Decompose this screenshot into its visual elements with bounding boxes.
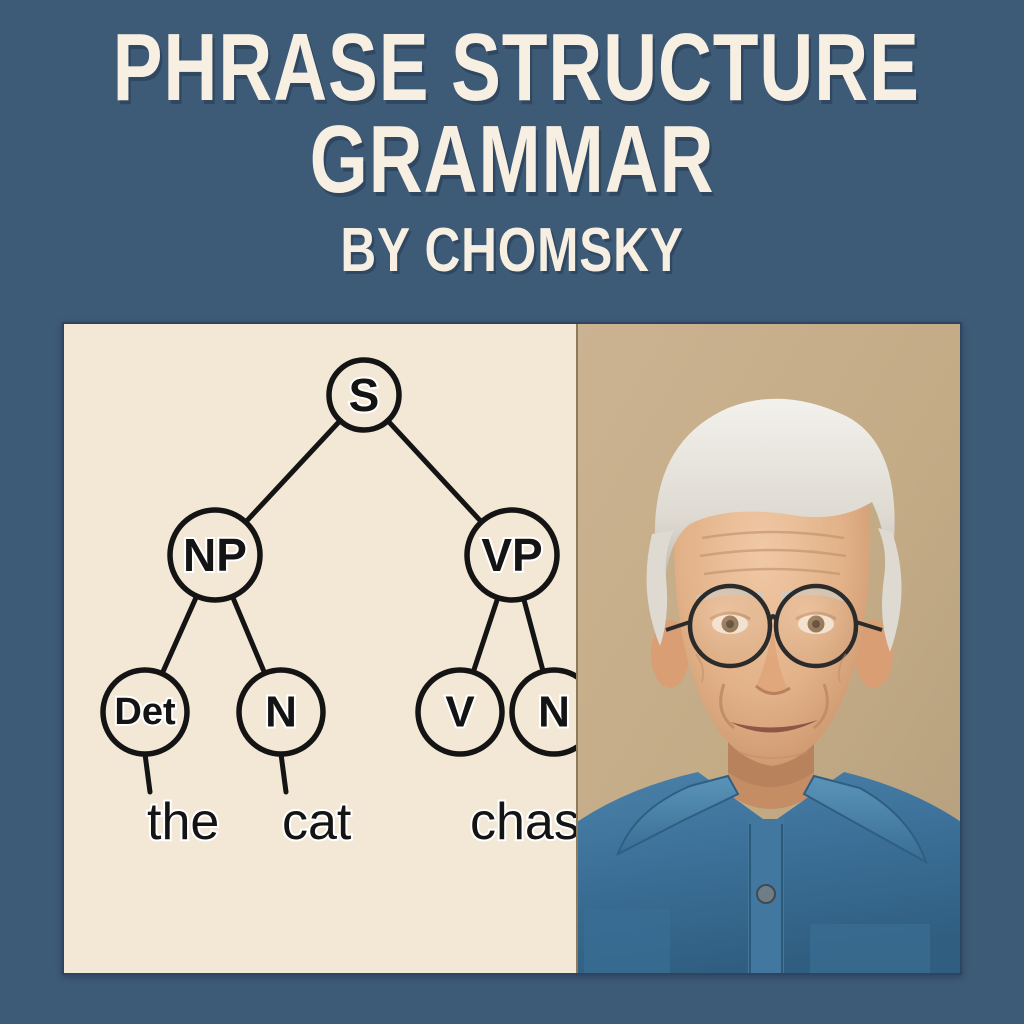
node-label-S: S: [349, 369, 380, 421]
tree-node-NP[interactable]: NP: [170, 510, 260, 600]
tree-word-0: the: [147, 793, 219, 851]
poster-canvas: PHRASE STRUCTURE GRAMMAR BY CHOMSKY SNPV…: [0, 0, 1024, 1024]
tree-edge-VP-N2: [523, 598, 543, 673]
leaf-stem-Det: [145, 754, 150, 792]
tree-edge-S-NP: [245, 420, 341, 523]
leaf-stem-N1: [281, 754, 286, 792]
tree-node-Det[interactable]: Det: [103, 670, 187, 754]
syntax-tree-svg: SNPVPDetNVN thecatchased: [64, 324, 576, 973]
tree-node-N1[interactable]: N: [239, 670, 323, 754]
tree-word-1: cat: [282, 793, 352, 851]
tree-leaf-stem-group: [145, 754, 286, 792]
page-title-line-1: PHRASE STRUCTURE: [113, 22, 912, 114]
portrait-photo-panel: [576, 324, 962, 973]
tree-node-VP[interactable]: VP: [467, 510, 557, 600]
tree-word-group: thecatchased: [147, 793, 576, 851]
node-label-Det: Det: [114, 691, 176, 733]
tree-node-group: SNPVPDetNVN: [103, 360, 576, 754]
node-label-N1: N: [265, 688, 297, 737]
portrait-illustration: [578, 324, 962, 973]
node-label-NP: NP: [183, 529, 247, 581]
shirt-button: [757, 885, 775, 903]
tree-edge-NP-Det: [162, 595, 197, 674]
tree-edge-S-VP: [387, 420, 482, 523]
tree-node-S[interactable]: S: [329, 360, 399, 430]
tree-edge-NP-N1: [232, 596, 265, 675]
node-label-V: V: [445, 688, 475, 737]
content-card: SNPVPDetNVN thecatchased: [62, 322, 962, 975]
node-label-VP: VP: [481, 529, 542, 581]
tree-edge-VP-V: [473, 597, 498, 673]
tree-node-N2[interactable]: N: [512, 670, 576, 754]
syntax-tree-panel: SNPVPDetNVN thecatchased: [64, 324, 576, 973]
tree-node-V[interactable]: V: [418, 670, 502, 754]
shirt-pocket-left: [584, 909, 670, 973]
shirt-pocket-right: [810, 924, 930, 973]
title-block: PHRASE STRUCTURE GRAMMAR BY CHOMSKY: [0, 0, 1024, 282]
node-label-N2: N: [538, 688, 570, 737]
page-title-line-2: GRAMMAR: [113, 114, 912, 206]
tree-word-2: chased: [470, 793, 576, 851]
page-subtitle: BY CHOMSKY: [102, 220, 921, 282]
